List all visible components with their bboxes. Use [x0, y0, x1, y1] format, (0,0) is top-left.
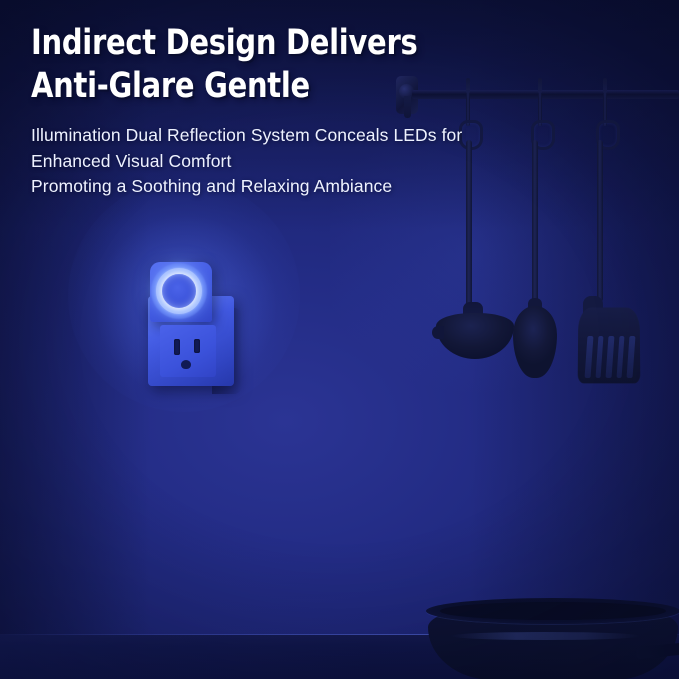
turner-slot: [595, 336, 604, 378]
turner-slot: [606, 336, 615, 378]
headline-line-2: Anti-Glare Gentle: [31, 65, 509, 108]
ladle-lip: [432, 326, 444, 339]
turner-slots: [585, 336, 636, 378]
outlet-receptacle-face: [160, 325, 216, 377]
subhead-line-1: Illumination Dual Reflection System Conc…: [31, 123, 551, 148]
night-light-ring-halo: [151, 263, 207, 319]
subhead-line-2: Enhanced Visual Comfort: [31, 149, 551, 174]
outlet-ground-hole: [181, 360, 191, 369]
rail-hook: [594, 92, 616, 144]
page-headline: Indirect Design Delivers Anti-Glare Gent…: [31, 22, 509, 107]
outlet-slot-hot: [194, 339, 200, 353]
turner-slot: [616, 336, 625, 378]
turner-handle: [597, 140, 603, 302]
page-subheadline: Illumination Dual Reflection System Conc…: [31, 123, 551, 199]
outlet-slot-neutral: [174, 339, 180, 355]
banner-text-block: Indirect Design Delivers Anti-Glare Gent…: [31, 22, 551, 200]
subhead-line-3: Promoting a Soothing and Relaxing Ambian…: [31, 174, 551, 199]
headline-line-1: Indirect Design Delivers: [31, 22, 509, 65]
pan-interior: [440, 602, 666, 620]
product-banner-scene: Indirect Design Delivers Anti-Glare Gent…: [0, 0, 679, 679]
